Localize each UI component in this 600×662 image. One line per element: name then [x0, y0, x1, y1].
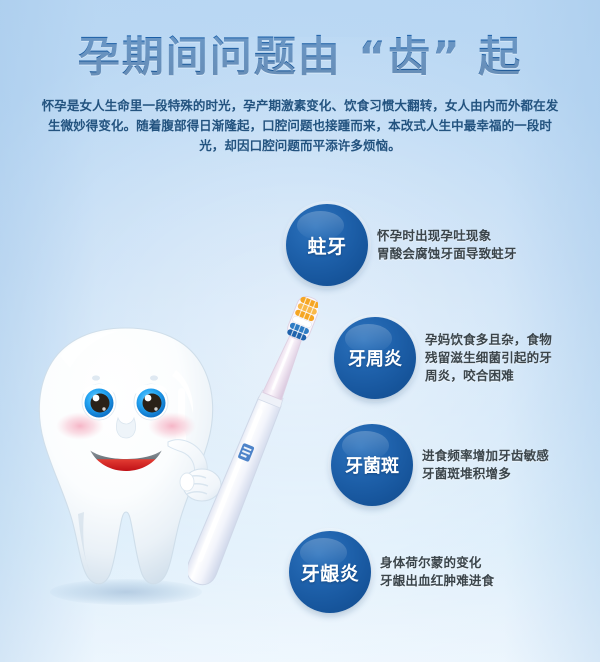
badge-item[interactable]: 牙周炎 孕妈饮食多且杂，食物 残留滋生细菌引起的牙 周炎，咬合困难 — [334, 317, 552, 399]
left-eye-icon — [82, 384, 116, 420]
badge-description: 怀孕时出现孕吐现象 胃酸会腐蚀牙面导致蛀牙 — [377, 227, 517, 263]
dental-pregnancy-infographic: 孕期间问题由 “齿” 起 怀孕是女人生命里一段特殊的时光，孕产期激素变化、饮食习… — [0, 0, 600, 662]
badge-bubble[interactable]: 牙周炎 — [334, 317, 416, 399]
badge-description-line: 怀孕时出现孕吐现象 — [377, 227, 517, 245]
badge-item[interactable]: 牙龈炎 身体荷尔蒙的变化 牙龈出血红肿难进食 — [289, 531, 494, 613]
badge-label: 牙周炎 — [348, 345, 402, 371]
badge-description-line: 周炎，咬合困难 — [425, 367, 552, 385]
badge-bubble[interactable]: 牙龈炎 — [289, 531, 371, 613]
badge-label: 蛀牙 — [307, 232, 346, 259]
intro-paragraph: 怀孕是女人生命里一段特殊的时光，孕产期激素变化、饮食习惯大翻转，女人由内而外都在… — [0, 80, 600, 156]
badge-label: 牙菌斑 — [345, 452, 399, 478]
badge-description-line: 孕妈饮食多且杂，食物 — [425, 331, 552, 349]
badge-description-line: 残留滋生细菌引起的牙 — [425, 349, 552, 367]
badge-item[interactable]: 牙菌斑 进食频率增加牙齿敏感 牙菌斑堆积增多 — [331, 424, 549, 506]
badge-description-line: 进食频率增加牙齿敏感 — [422, 447, 549, 465]
badge-label: 牙龈炎 — [301, 559, 360, 586]
badge-description-line: 胃酸会腐蚀牙面导致蛀牙 — [377, 245, 517, 263]
badge-description: 进食频率增加牙齿敏感 牙菌斑堆积增多 — [422, 447, 549, 483]
badge-description: 身体荷尔蒙的变化 牙龈出血红肿难进食 — [380, 554, 494, 590]
badge-description-line: 身体荷尔蒙的变化 — [380, 554, 494, 572]
badge-bubble[interactable]: 蛀牙 — [286, 204, 368, 286]
badge-bubble[interactable]: 牙菌斑 — [331, 424, 413, 506]
header: 孕期间问题由 “齿” 起 怀孕是女人生命里一段特殊的时光，孕产期激素变化、饮食习… — [0, 0, 600, 156]
badge-description: 孕妈饮食多且杂，食物 残留滋生细菌引起的牙 周炎，咬合困难 — [425, 331, 552, 385]
right-eye-icon — [134, 384, 168, 420]
badge-item[interactable]: 蛀牙 怀孕时出现孕吐现象 胃酸会腐蚀牙面导致蛀牙 — [286, 204, 517, 286]
page-title: 孕期间问题由 “齿” 起 — [0, 0, 600, 80]
badge-description-line: 牙龈出血红肿难进食 — [380, 572, 494, 590]
badge-description-line: 牙菌斑堆积增多 — [422, 465, 549, 483]
